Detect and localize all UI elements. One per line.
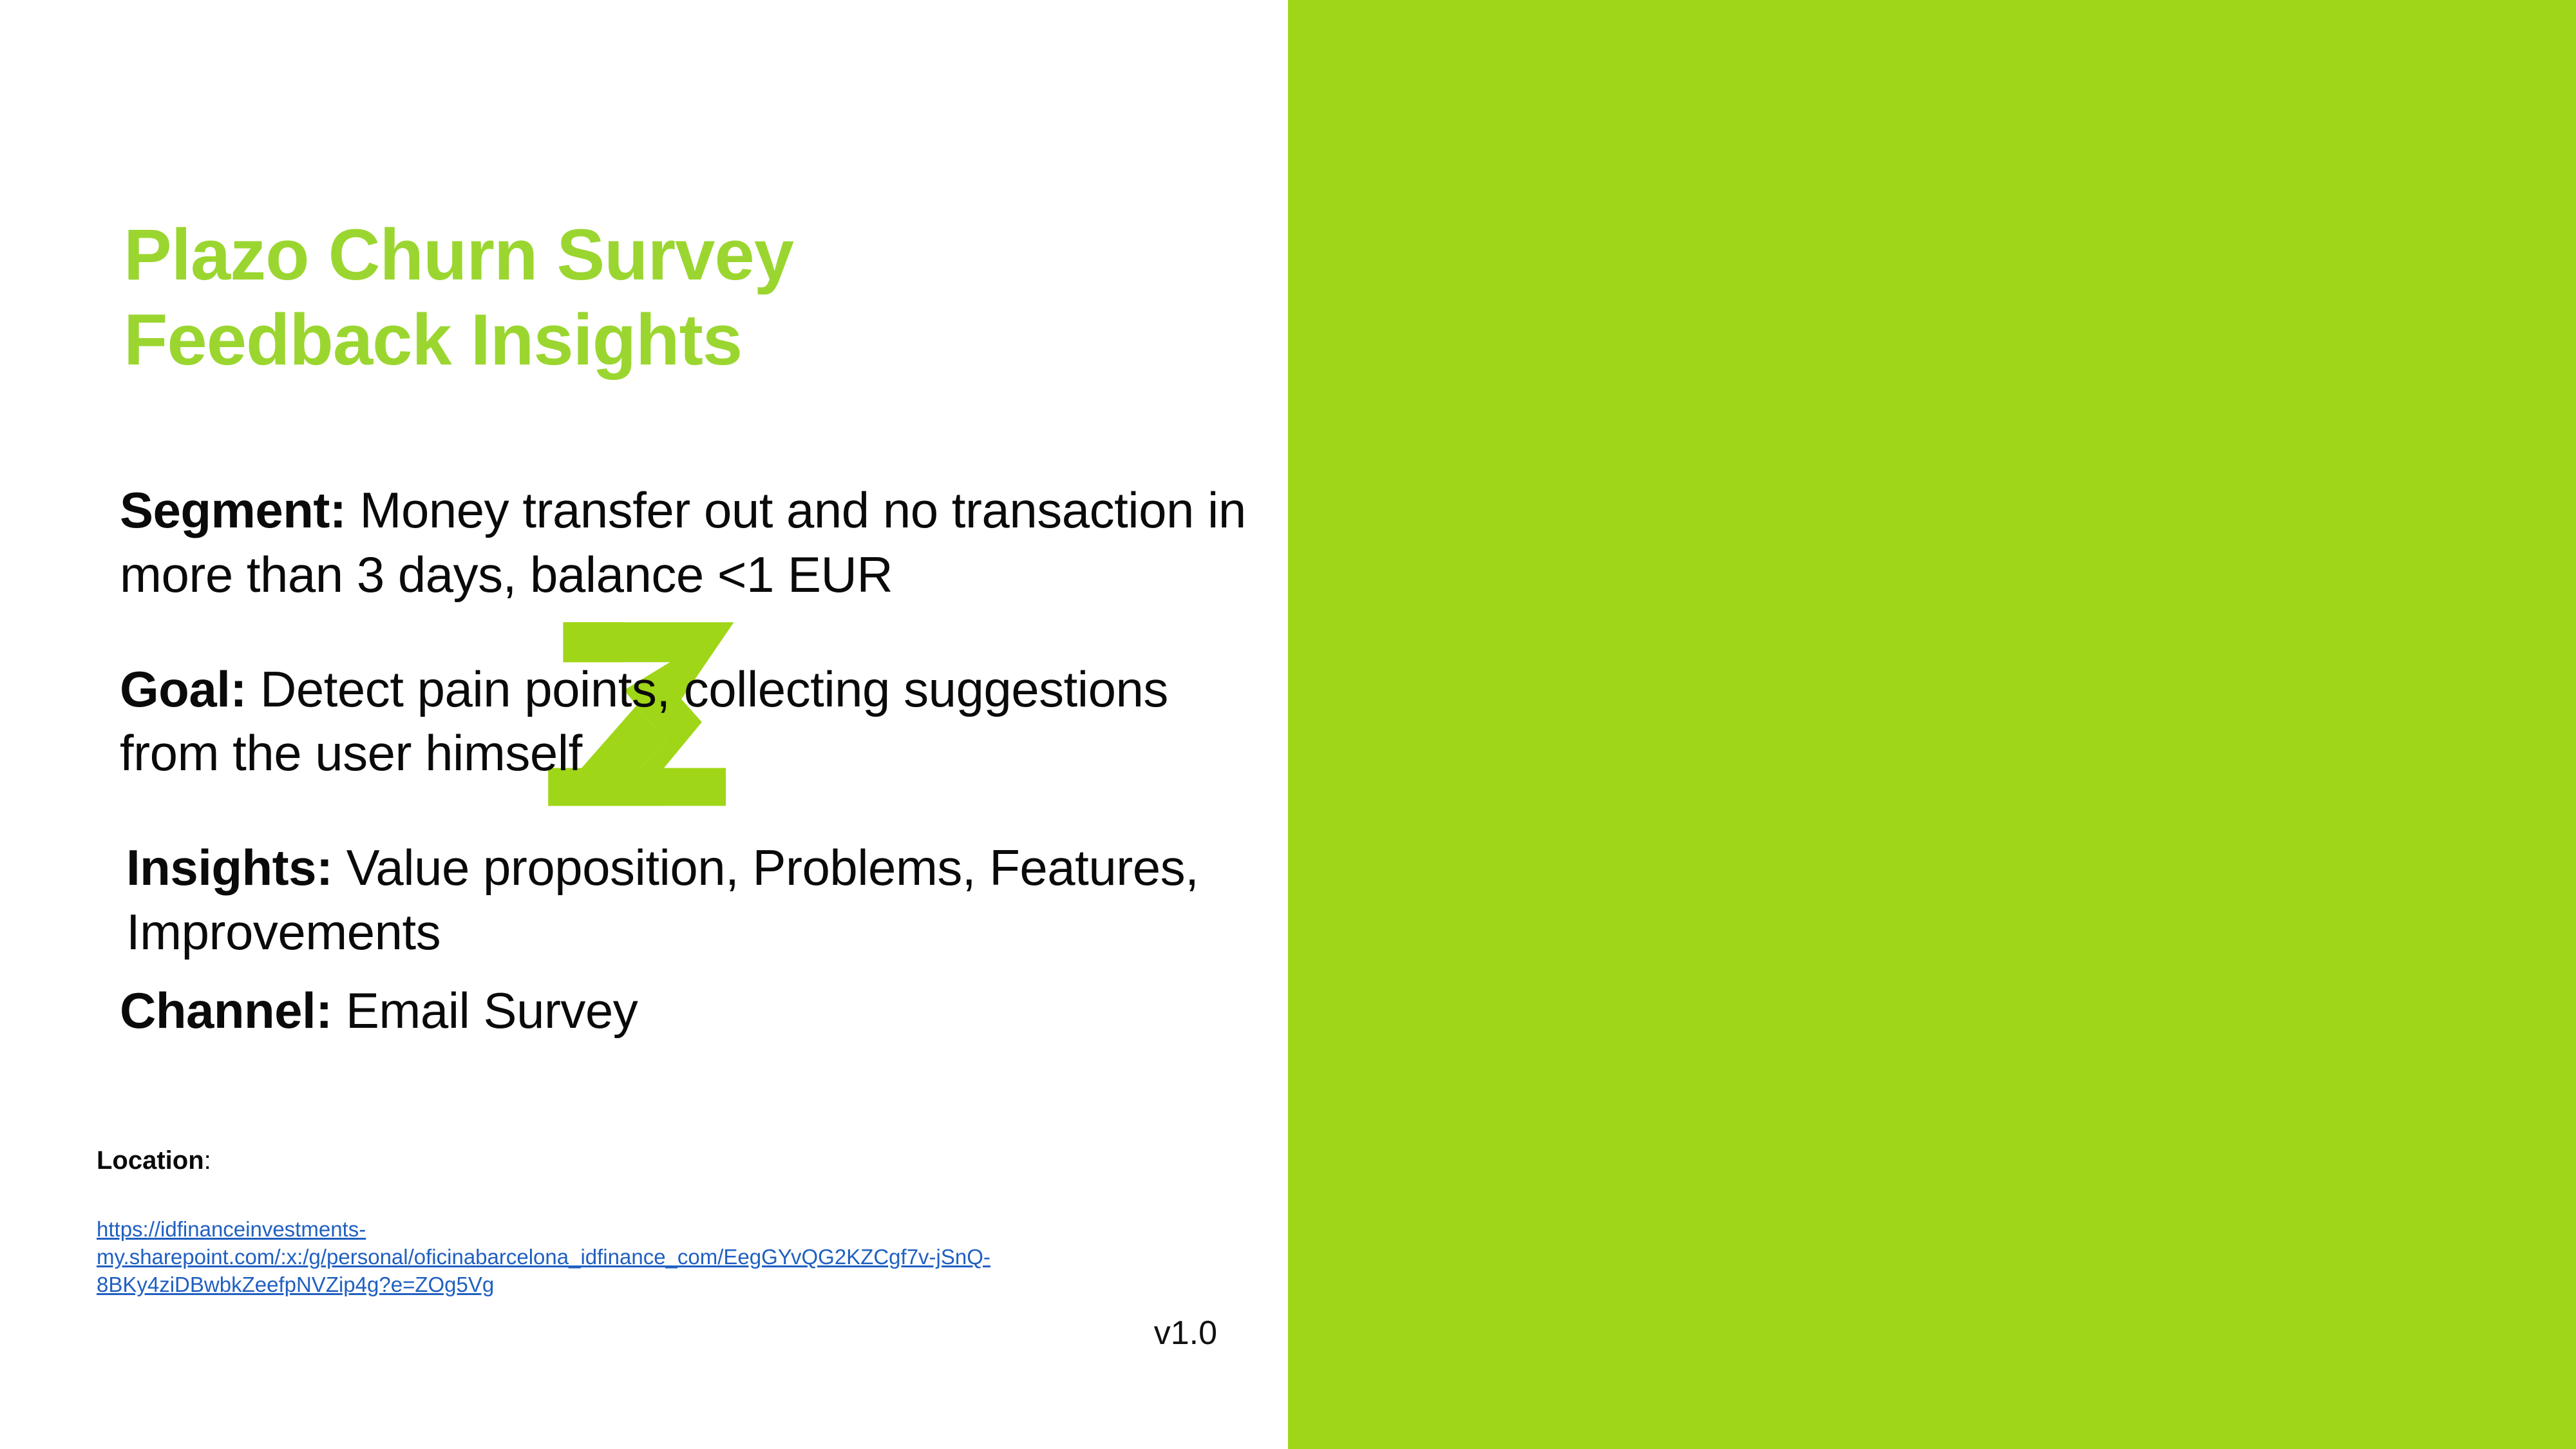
slide-canvas: Plazo Churn Survey Feedback Insights Seg… bbox=[0, 0, 2576, 1449]
source-link-line-3: 8BKy4ziDBwbkZeefpNVZip4g?e=ZOg5Vg bbox=[97, 1271, 1140, 1299]
page-title: Plazo Churn Survey Feedback Insights bbox=[124, 213, 1180, 383]
insights-label: Insights: bbox=[126, 839, 333, 896]
survey-summary-list: Segment: Money transfer out and no trans… bbox=[120, 428, 1273, 1046]
location-label-text: Location bbox=[97, 1146, 204, 1175]
version-label: v1.0 bbox=[1154, 1314, 1217, 1352]
source-link-line-1: https://idfinanceinvestments- bbox=[97, 1216, 1140, 1244]
page-title-line-2: Feedback Insights bbox=[124, 298, 1180, 383]
summary-item-channel: Channel: Email Survey bbox=[120, 979, 1273, 1043]
goal-label: Goal: bbox=[120, 661, 247, 717]
goal-value: Detect pain points, collecting suggestio… bbox=[120, 661, 1168, 782]
summary-item-segment: Segment: Money transfer out and no trans… bbox=[120, 478, 1273, 607]
location-label: Location: bbox=[97, 1146, 211, 1175]
source-document-link[interactable]: https://idfinanceinvestments- my.sharepo… bbox=[97, 1216, 1140, 1299]
page-title-line-1: Plazo Churn Survey bbox=[124, 213, 1180, 298]
summary-item-insights: Insights: Value proposition, Problems, F… bbox=[120, 836, 1273, 965]
segment-label: Segment: bbox=[120, 482, 346, 538]
source-link-line-2: my.sharepoint.com/:x:/g/personal/oficina… bbox=[97, 1244, 1140, 1271]
channel-label: Channel: bbox=[120, 982, 332, 1039]
channel-value: Email Survey bbox=[332, 982, 638, 1039]
summary-item-goal: Goal: Detect pain points, collecting sug… bbox=[120, 658, 1273, 786]
brand-panel bbox=[1288, 0, 2576, 1449]
content-column: Plazo Churn Survey Feedback Insights Seg… bbox=[0, 0, 1288, 1449]
location-label-colon: : bbox=[204, 1146, 211, 1175]
